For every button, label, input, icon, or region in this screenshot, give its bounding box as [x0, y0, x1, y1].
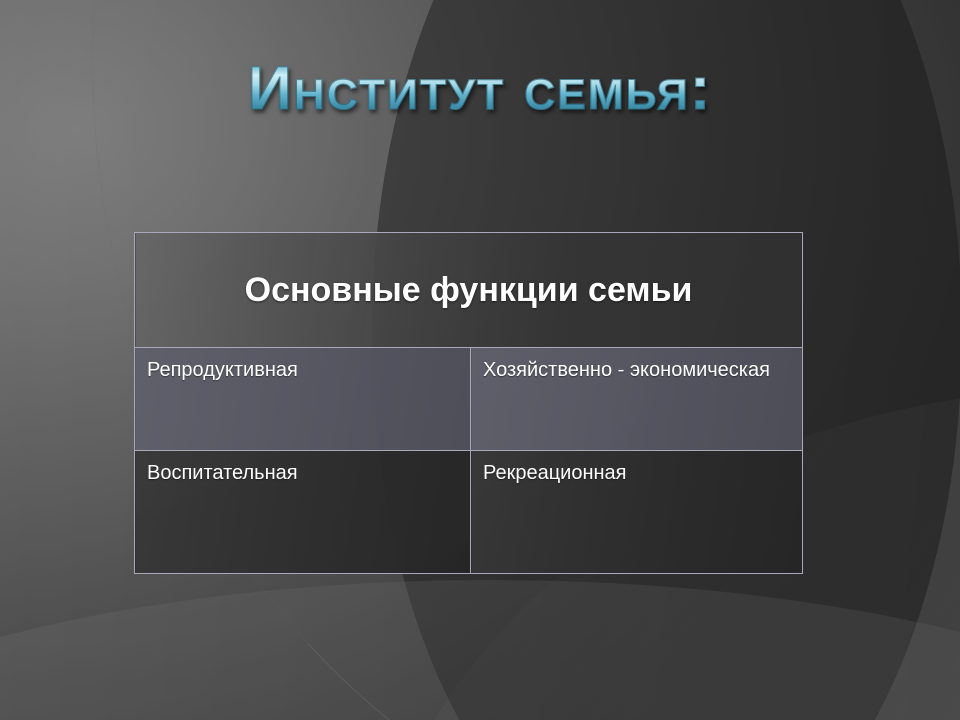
functions-table: Основные функции семьи Репродуктивная Хо…	[134, 232, 803, 574]
table-row: Воспитательная Рекреационная	[135, 451, 803, 574]
table-cell-label: Воспитательная	[136, 452, 469, 487]
table-cell-recreational: Рекреационная	[471, 451, 803, 574]
slide-title: Институт семья:	[0, 56, 960, 120]
table-cell-educational: Воспитательная	[135, 451, 471, 574]
table-cell-label: Рекреационная	[472, 452, 801, 487]
table-cell-reproductive: Репродуктивная	[135, 348, 471, 451]
table-cell-label: Репродуктивная	[136, 349, 469, 384]
presentation-slide: Институт семья: Основные функции семьи Р…	[0, 0, 960, 720]
table-cell-label: Хозяйственно - экономическая	[472, 349, 801, 384]
table-cell-economic: Хозяйственно - экономическая	[471, 348, 803, 451]
table-header-cell: Основные функции семьи	[135, 233, 803, 348]
table-header-row: Основные функции семьи	[135, 233, 803, 348]
table-row: Репродуктивная Хозяйственно - экономичес…	[135, 348, 803, 451]
